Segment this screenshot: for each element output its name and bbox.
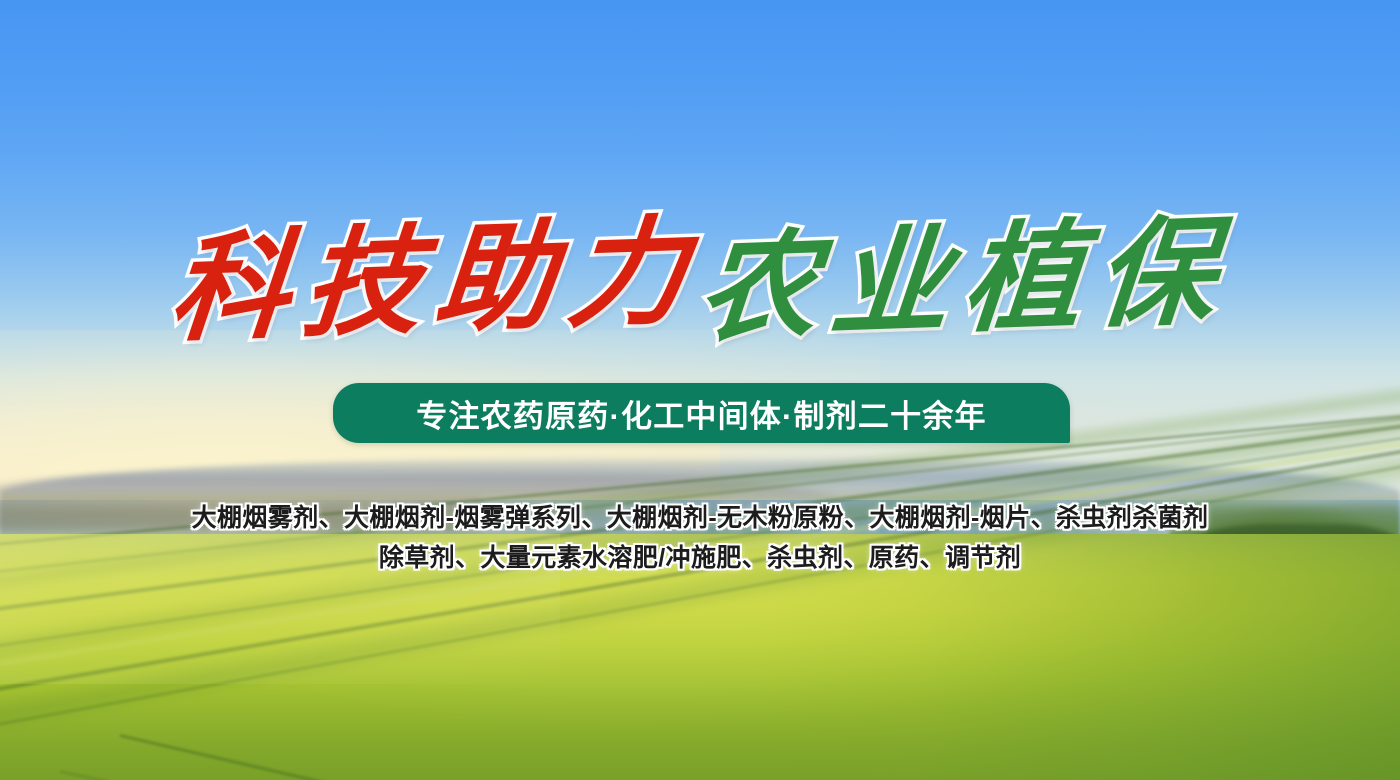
product-category-list: 大棚烟雾剂、大棚烟剂-烟雾弹系列、大棚烟剂-无木粉原粉、大棚烟剂-烟片、杀虫剂杀… [0, 498, 1400, 578]
subtitle-pill: 专注农药原药·化工中间体·制剂二十余年 [333, 383, 1070, 443]
product-line-1: 大棚烟雾剂、大棚烟剂-烟雾弹系列、大棚烟剂-无木粉原粉、大棚烟剂-烟片、杀虫剂杀… [0, 498, 1400, 538]
subtitle-text: 专注农药原药·化工中间体·制剂二十余年 [416, 391, 986, 436]
product-line-2: 除草剂、大量元素水溶肥/冲施肥、杀虫剂、原药、调节剂 [0, 538, 1400, 578]
headline-segment-red: 科技助力 [164, 196, 707, 364]
banner-headline: 科技助力农业植保 [0, 205, 1400, 355]
headline-segment-green: 农业植保 [692, 196, 1235, 364]
promo-banner: 科技助力农业植保 专注农药原药·化工中间体·制剂二十余年 大棚烟雾剂、大棚烟剂-… [0, 0, 1400, 780]
